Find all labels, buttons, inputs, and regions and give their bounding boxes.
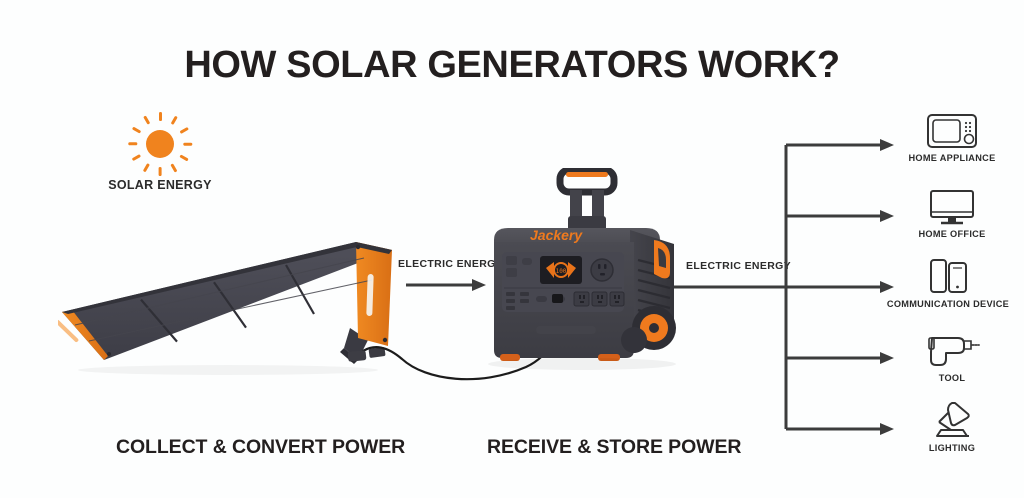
infographic-canvas: HOW SOLAR GENERATORS WORK? SOLAR ENERGY [0, 0, 1024, 498]
sun-core [146, 130, 174, 158]
caption-receive-store: RECEIVE & STORE POWER [487, 436, 741, 459]
solar-energy-label: SOLAR ENERGY [94, 178, 226, 192]
device-label: COMMUNICATION DEVICE [872, 299, 1024, 309]
microwave-icon [926, 112, 978, 150]
page-title: HOW SOLAR GENERATORS WORK? [0, 44, 1024, 87]
device-label: LIGHTING [880, 443, 1024, 453]
device-label: HOME APPLIANCE [880, 153, 1024, 163]
desk-lamp-icon [927, 400, 977, 440]
monitor-icon [928, 188, 976, 226]
svg-text:100: 100 [556, 268, 567, 275]
device-communication: COMMUNICATION DEVICE [872, 258, 1024, 309]
sun-icon [128, 112, 192, 176]
svg-text:Jackery: Jackery [530, 227, 583, 243]
solar-energy-block: SOLAR ENERGY [94, 108, 226, 203]
caption-collect-convert: COLLECT & CONVERT POWER [116, 436, 405, 459]
device-label: HOME OFFICE [880, 229, 1024, 239]
device-home-office: HOME OFFICE [880, 188, 1024, 239]
device-tool: TOOL [880, 332, 1024, 383]
device-lighting: LIGHTING [880, 400, 1024, 453]
device-home-appliance: HOME APPLIANCE [880, 112, 1024, 163]
drill-icon [924, 332, 980, 370]
device-label: TOOL [880, 373, 1024, 383]
phones-icon [926, 258, 970, 296]
